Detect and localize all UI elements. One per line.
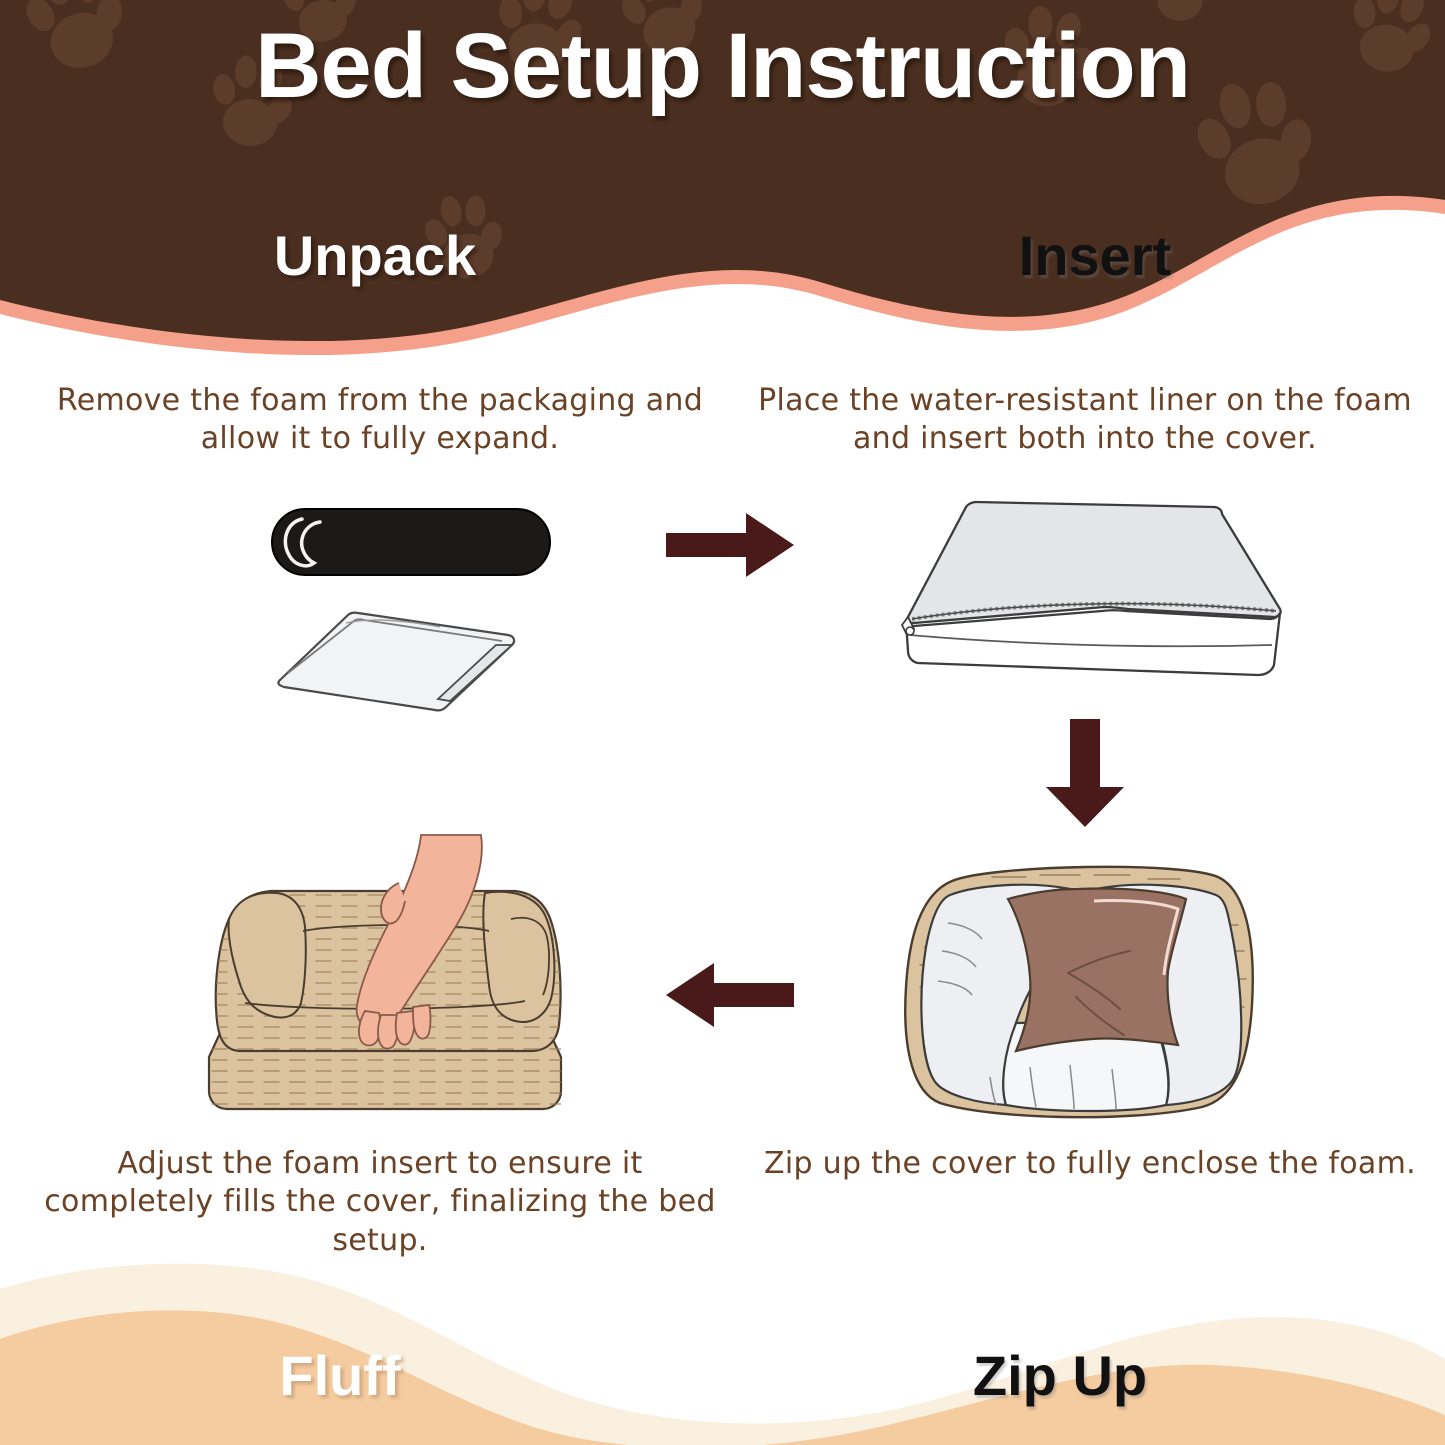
illustration-open-cover-with-liner — [880, 855, 1280, 1120]
infographic-canvas: Bed Setup Instruction Unpack Insert Remo… — [0, 0, 1445, 1445]
arrow-down-icon — [1040, 715, 1130, 830]
step-label-zipup: Zip Up — [860, 1348, 1260, 1404]
illustration-rolled-foam-and-liner — [250, 495, 590, 710]
caption-zipup: Zip up the cover to fully enclose the fo… — [760, 1145, 1420, 1183]
step-label-unpack: Unpack — [175, 228, 575, 284]
arrow-right-icon — [660, 505, 800, 585]
rolled-foam-shape — [272, 509, 550, 575]
folded-liner-shape — [278, 613, 514, 711]
step-label-fluff: Fluff — [140, 1348, 540, 1404]
illustration-hand-pressing-bed — [185, 835, 615, 1130]
page-title: Bed Setup Instruction — [0, 18, 1445, 115]
step-label-insert: Insert — [895, 228, 1295, 284]
illustration-cover-with-zipper — [880, 485, 1300, 690]
caption-fluff: Adjust the foam insert to ensure it comp… — [40, 1145, 720, 1260]
arrow-left-icon — [660, 955, 800, 1035]
caption-insert: Place the water-resistant liner on the f… — [740, 382, 1430, 459]
caption-unpack: Remove the foam from the packaging and a… — [40, 382, 720, 459]
